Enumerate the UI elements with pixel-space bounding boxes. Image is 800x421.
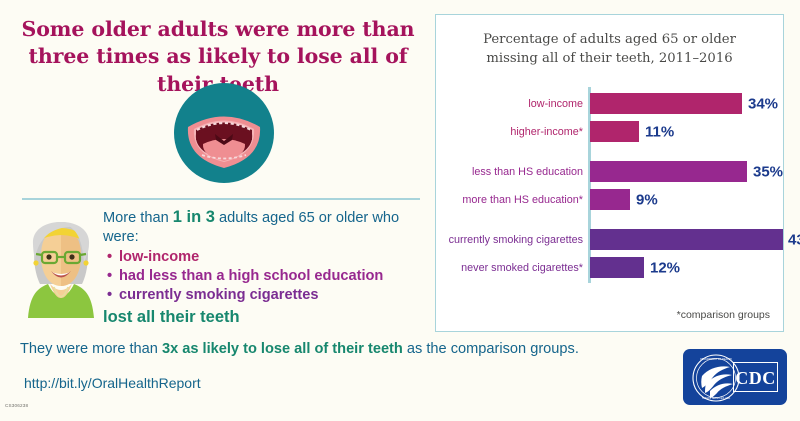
bar-rect bbox=[590, 189, 630, 210]
bar-value: 11% bbox=[645, 123, 674, 140]
bar-rect bbox=[590, 121, 639, 142]
body-copy: More than 1 in 3 adults aged 65 or older… bbox=[103, 207, 423, 329]
svg-text:DEPARTMENT OF HEALTH: DEPARTMENT OF HEALTH bbox=[700, 358, 732, 361]
bar-label: higher-income* bbox=[510, 126, 583, 138]
bar-label: never smoked cigarettes* bbox=[461, 262, 583, 274]
bar-label: less than HS education bbox=[472, 166, 583, 178]
table-row: more than HS education* 9% bbox=[436, 189, 785, 210]
chart-axis-line bbox=[588, 87, 591, 283]
chart-footnote: *comparison groups bbox=[677, 309, 770, 321]
svg-text:HUMAN SERVICES USA: HUMAN SERVICES USA bbox=[702, 397, 731, 400]
body-closing: lost all their teeth bbox=[103, 307, 423, 328]
chart-title-line-2: missing all of their teeth, 2011–2016 bbox=[436, 49, 783, 68]
chart-panel: Percentage of adults aged 65 or older mi… bbox=[435, 14, 784, 332]
summary-statement: They were more than 3x as likely to lose… bbox=[20, 341, 579, 357]
bar-chart-plot: low-income 34% higher-income* 11% less t… bbox=[436, 87, 785, 287]
older-woman-avatar bbox=[24, 218, 98, 318]
bar-rect bbox=[590, 229, 783, 250]
chart-title-line-1: Percentage of adults aged 65 or older bbox=[436, 30, 783, 49]
report-url[interactable]: http://bit.ly/OralHealthReport bbox=[24, 375, 201, 391]
bar-value: 12% bbox=[650, 259, 680, 276]
publication-code: CS306238 bbox=[5, 403, 28, 408]
summary-suffix: as the comparison groups. bbox=[403, 341, 579, 357]
table-row: higher-income* 11% bbox=[436, 121, 785, 142]
list-item: low-income bbox=[103, 248, 423, 267]
lead-sentence: More than 1 in 3 adults aged 65 or older… bbox=[103, 207, 423, 247]
cdc-logo: DEPARTMENT OF HEALTH HUMAN SERVICES USA … bbox=[683, 349, 787, 405]
bar-value: 35% bbox=[753, 163, 783, 180]
open-mouth-icon bbox=[170, 82, 278, 184]
bar-value: 34% bbox=[748, 95, 778, 112]
infographic-root: Some older adults were more than three t… bbox=[0, 0, 800, 421]
summary-emphasis: 3x as likely to lose all of their teeth bbox=[162, 341, 403, 357]
bar-value: 9% bbox=[636, 191, 658, 208]
bar-label: low-income bbox=[528, 98, 583, 110]
cdc-wordmark: CDC bbox=[733, 362, 778, 392]
chart-title: Percentage of adults aged 65 or older mi… bbox=[436, 30, 783, 68]
lead-prefix: More than bbox=[103, 210, 173, 226]
bar-label: more than HS education* bbox=[462, 194, 583, 206]
table-row: never smoked cigarettes* 12% bbox=[436, 257, 785, 278]
bar-rect bbox=[590, 93, 742, 114]
risk-factor-list: low-income had less than a high school e… bbox=[103, 248, 423, 304]
bar-value: 43% bbox=[788, 231, 800, 248]
list-item: currently smoking cigarettes bbox=[103, 286, 423, 305]
list-item: had less than a high school education bbox=[103, 267, 423, 286]
bar-rect bbox=[590, 257, 644, 278]
table-row: less than HS education 35% bbox=[436, 161, 785, 182]
summary-prefix: They were more than bbox=[20, 341, 162, 357]
bar-label: currently smoking cigarettes bbox=[449, 234, 583, 246]
lead-emphasis: 1 in 3 bbox=[173, 208, 215, 226]
table-row: low-income 34% bbox=[436, 93, 785, 114]
section-divider bbox=[22, 198, 420, 200]
bar-rect bbox=[590, 161, 747, 182]
table-row: currently smoking cigarettes 43% bbox=[436, 229, 785, 250]
